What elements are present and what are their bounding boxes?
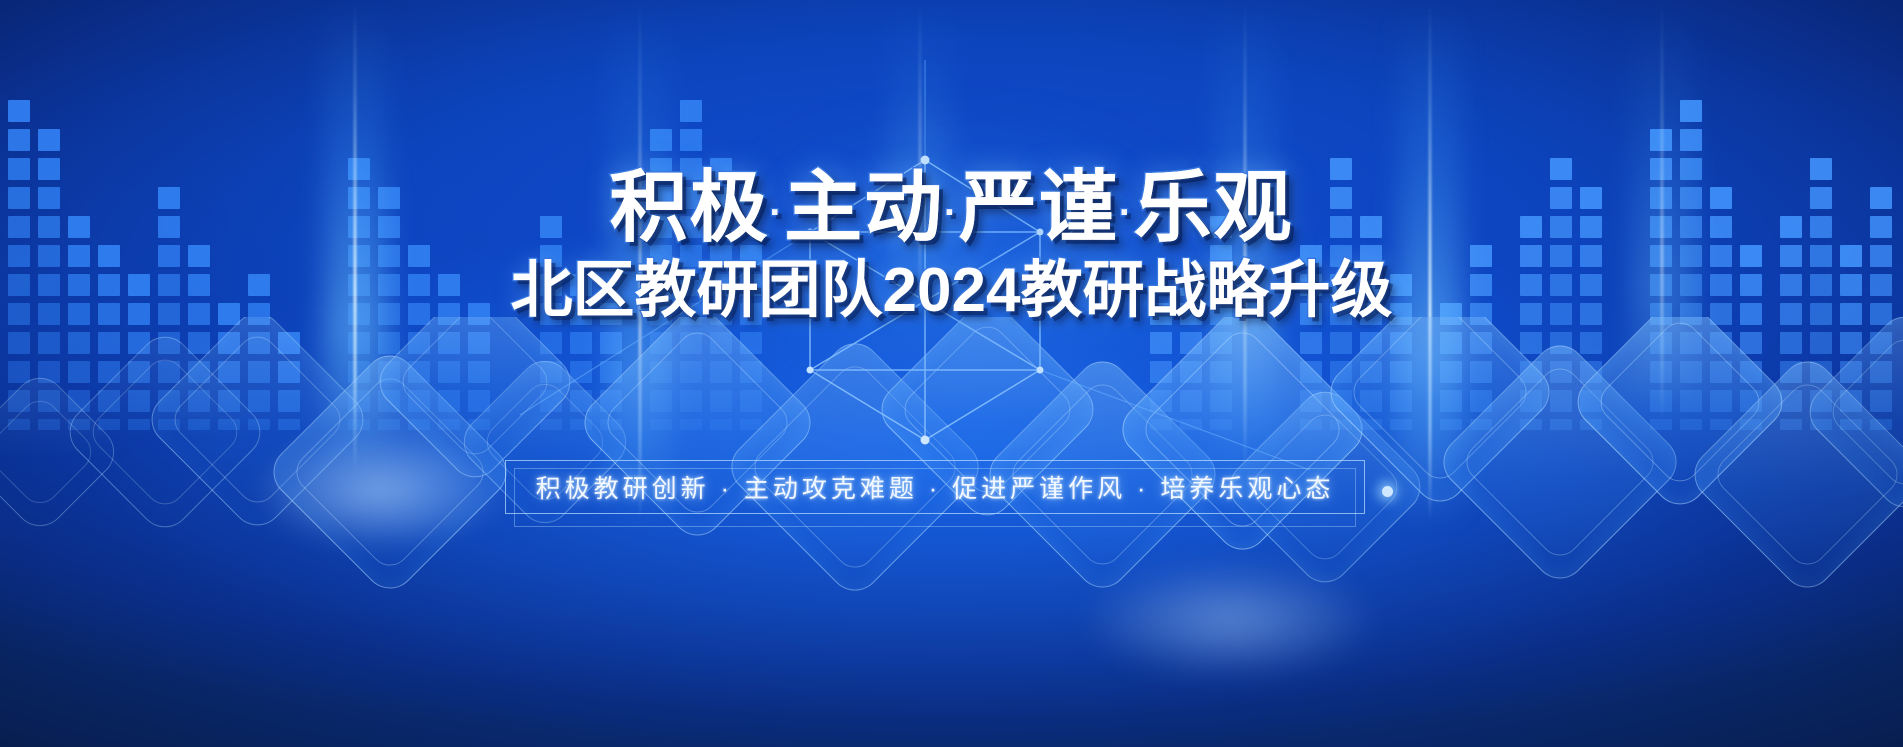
block-cell xyxy=(1650,129,1672,151)
title-word-3: 严谨 xyxy=(959,163,1119,251)
title-word-2: 主动 xyxy=(784,163,944,251)
title-separator-dot-icon: · xyxy=(1119,192,1134,234)
title-separator-dot-icon: · xyxy=(944,192,959,234)
title-word-4: 乐观 xyxy=(1134,163,1294,251)
block-cell xyxy=(1680,100,1702,122)
block-cell xyxy=(1680,129,1702,151)
banner-stage: 积极·主动·严谨·乐观 北区教研团队2024教研战略升级 积极教研创新 · 主动… xyxy=(0,0,1903,747)
subtitle-end-node-icon xyxy=(1382,486,1393,497)
subtitle-frame: 积极教研创新 · 主动攻克难题 · 促进严谨作风 · 培养乐观心态 xyxy=(505,460,1365,514)
subtitle-text: 积极教研创新 · 主动攻克难题 · 促进严谨作风 · 培养乐观心态 xyxy=(536,469,1335,505)
floor-plates xyxy=(0,317,1903,747)
title-separator-dot-icon: · xyxy=(770,192,785,234)
title-word-1: 积极 xyxy=(609,163,769,251)
title-line-2: 北区教研团队2024教研战略升级 xyxy=(0,260,1903,322)
headline-group: 积极·主动·严谨·乐观 北区教研团队2024教研战略升级 xyxy=(0,168,1903,322)
title-line-1: 积极·主动·严谨·乐观 xyxy=(0,168,1903,246)
